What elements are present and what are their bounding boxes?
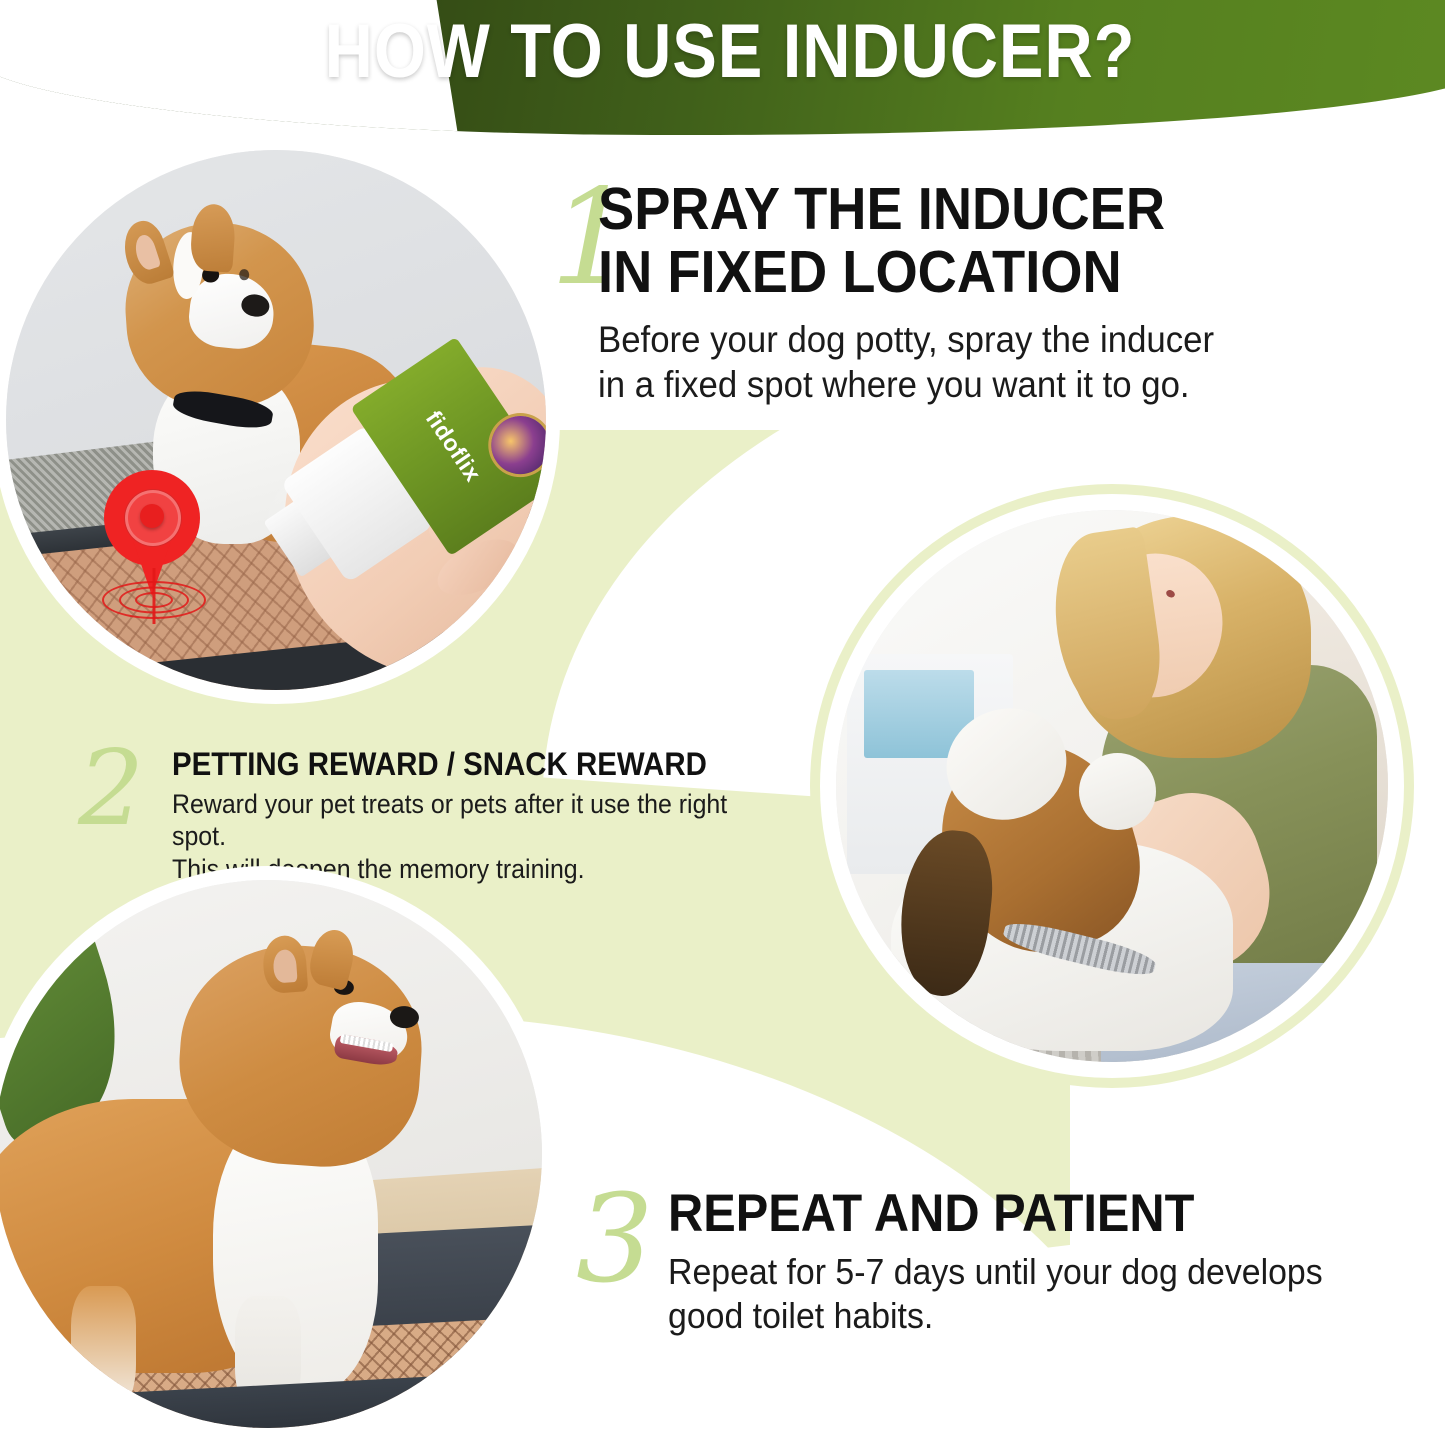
step-1-body-line-1: Before your dog potty, spray the inducer [598,317,1350,362]
step-3-body-line-1: Repeat for 5-7 days until your dog devel… [668,1250,1364,1294]
step-2-title-line-1: PETTING REWARD / SNACK REWARD [172,748,761,782]
step-1-body: Before your dog potty, spray the inducer… [598,317,1350,407]
step-1-title-line-1: SPRAY THE INDUCER [598,178,1334,241]
step-2-block: 2 PETTING REWARD / SNACK REWARD Reward y… [172,748,812,885]
step-3-number: 3 [576,1178,654,1300]
step-1-body-line-2: in a fixed spot where you want it to go. [598,362,1350,407]
step-3-title-line-1: REPEAT AND PATIENT [668,1186,1349,1242]
step-2-body: Reward your pet treats or pets after it … [172,788,774,885]
photo-corgi-spray: fidoflix [6,150,546,690]
woman-mouth [1165,589,1176,600]
photo-corgi-tray [0,880,542,1428]
step-2-body-line-1: Reward your pet treats or pets after it … [172,788,774,853]
header-banner: HOW TO USE INDUCER? [0,0,1445,135]
photo-corgi-spray-scene: fidoflix [6,150,546,690]
pin-target-rings [102,578,206,622]
beagle-paw [1079,753,1156,830]
step-1-title: SPRAY THE INDUCER IN FIXED LOCATION [598,178,1334,303]
step-1-block: 1 SPRAY THE INDUCER IN FIXED LOCATION Be… [598,178,1398,407]
step-2-title: PETTING REWARD / SNACK REWARD [172,748,761,782]
location-pin-icon [96,470,214,630]
photo-corgi-tray-scene [0,880,542,1428]
step-3-block: 3 REPEAT AND PATIENT Repeat for 5-7 days… [668,1186,1408,1338]
pin-stem [153,568,156,624]
step-3-body-line-2: good toilet habits. [668,1294,1364,1338]
page-title: HOW TO USE INDUCER? [61,8,1399,95]
step-3-title: REPEAT AND PATIENT [668,1186,1349,1242]
photo-woman-beagle [836,510,1388,1062]
pin-center-dot [140,504,164,528]
step-3-body: Repeat for 5-7 days until your dog devel… [668,1250,1364,1338]
photo-woman-beagle-scene [836,510,1388,1062]
dog-ear-right [189,204,237,274]
step-1-title-line-2: IN FIXED LOCATION [598,241,1334,304]
brand-name: fidoflix [419,406,486,487]
dog-ear-left [116,216,175,289]
step-2-number: 2 [78,736,144,840]
infographic-poster: HOW TO USE INDUCER? [0,0,1445,1445]
